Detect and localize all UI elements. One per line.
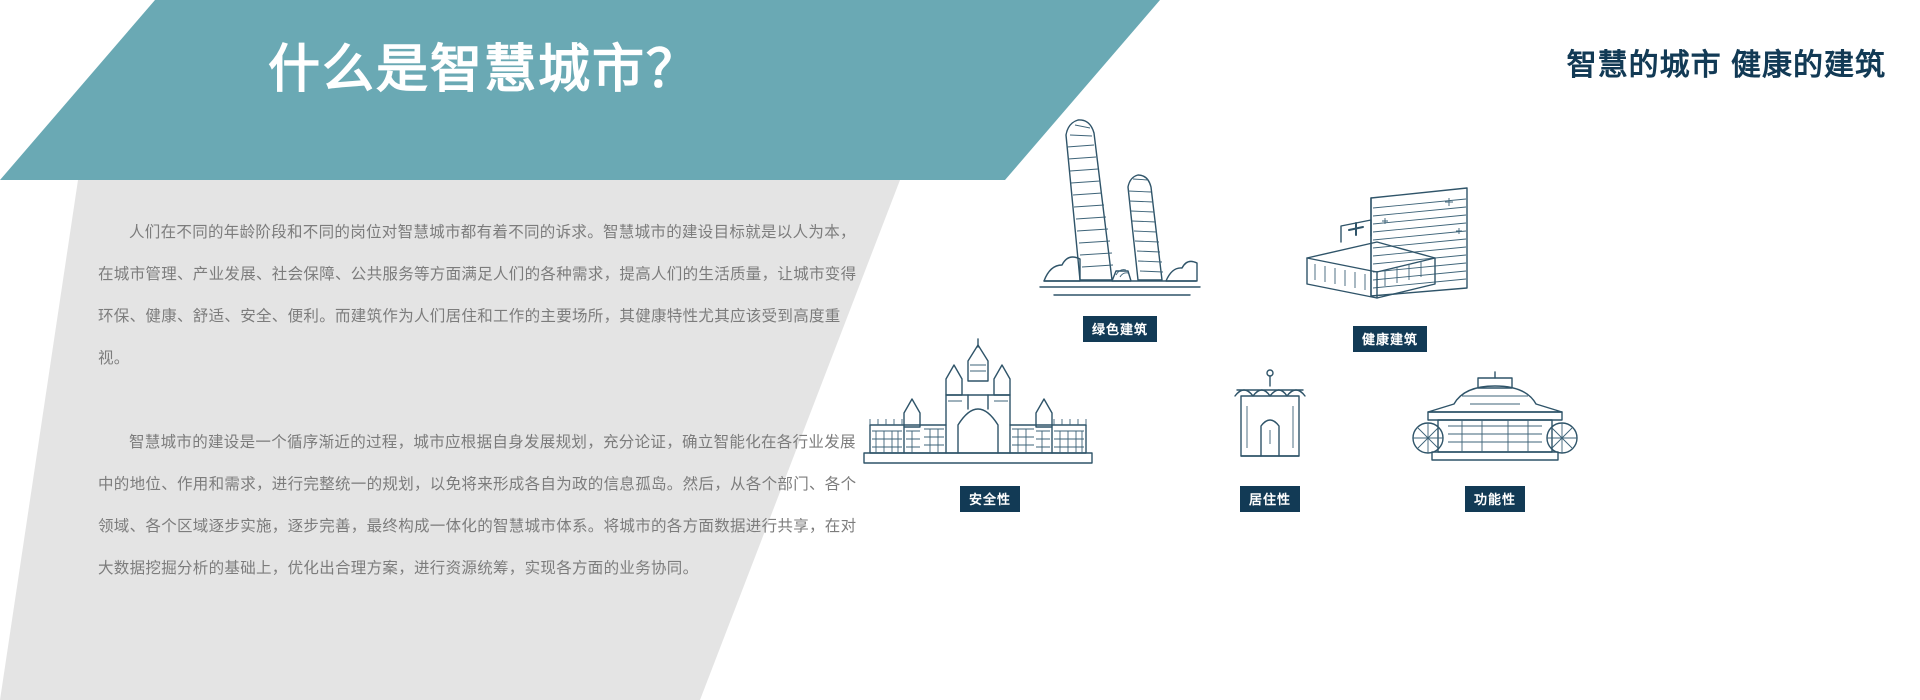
page-title: 什么是智慧城市？ (268, 42, 700, 99)
header-slogan: 智慧的城市 健康的建筑 (1567, 40, 1886, 84)
functionality-pavilion-icon (1410, 360, 1580, 480)
illustration-health-building: 健康建筑 (1260, 180, 1520, 352)
paragraph-1: 人们在不同的年龄阶段和不同的岗位对智慧城市都有着不同的诉求。智慧城市的建设目标就… (98, 212, 858, 380)
badge-safety: 安全性 (960, 486, 1020, 512)
badge-functionality: 功能性 (1465, 486, 1525, 512)
badge-livability: 居住性 (1240, 486, 1300, 512)
illustration-green-building: 绿色建筑 (990, 95, 1250, 342)
illustration-group: 绿色建筑 (840, 95, 1920, 655)
safety-castle-icon (850, 335, 1130, 480)
illustration-livability: 居住性 (1160, 360, 1380, 512)
label-wrap-livability: 居住性 (1160, 486, 1380, 512)
label-wrap-safety: 安全性 (840, 486, 1140, 512)
body-copy: 人们在不同的年龄阶段和不同的岗位对智慧城市都有着不同的诉求。智慧城市的建设目标就… (98, 212, 858, 590)
illustration-functionality: 功能性 (1380, 360, 1610, 512)
badge-health-building: 健康建筑 (1353, 326, 1427, 352)
illustration-safety: 安全性 (840, 335, 1140, 512)
health-building-hospital-icon (1285, 180, 1495, 320)
paragraph-2: 智慧城市的建设是一个循序渐近的过程，城市应根据自身发展规划，充分论证，确立智能化… (98, 422, 858, 590)
green-building-towers-icon (1020, 95, 1220, 310)
livability-house-icon (1205, 360, 1335, 480)
slide-root: 什么是智慧城市？ 智慧的城市 健康的建筑 人们在不同的年龄阶段和不同的岗位对智慧… (0, 0, 1920, 700)
label-wrap-functionality: 功能性 (1380, 486, 1610, 512)
label-wrap-health-building: 健康建筑 (1260, 326, 1520, 352)
